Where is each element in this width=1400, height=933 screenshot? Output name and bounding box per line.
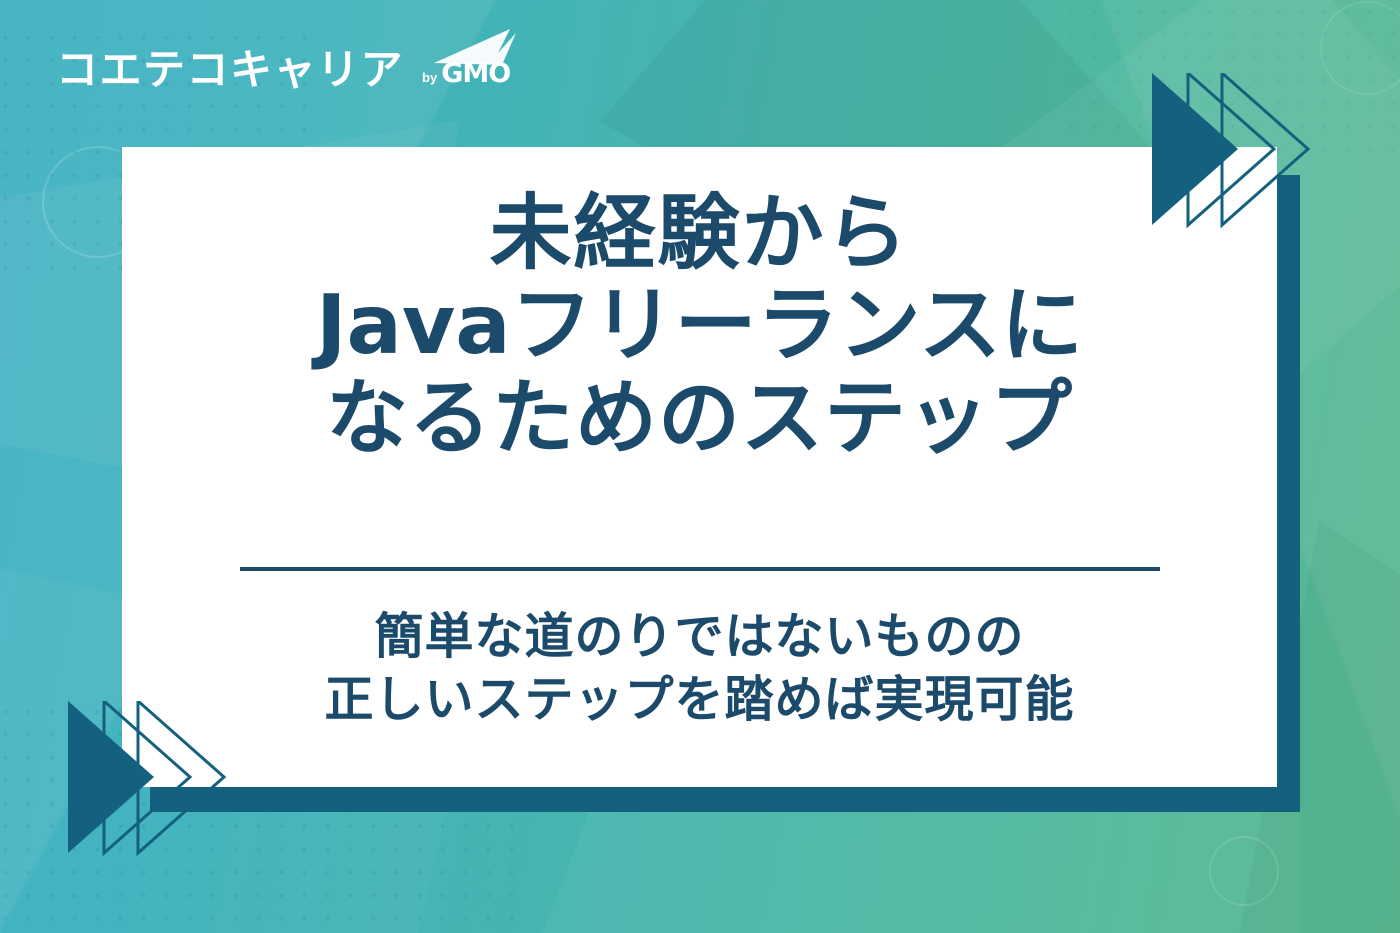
site-logo[interactable]: コエテコキャリア by GMO <box>56 49 510 91</box>
banner-stage: コエテコキャリア by GMO 未経験から Javaフリーランスに なるためのス… <box>0 0 1400 933</box>
headline-line-2: Javaフリーランスに <box>122 279 1277 372</box>
headline-divider <box>240 567 1160 571</box>
swoosh-arrow-icon <box>432 27 518 67</box>
headline-line-3: なるためのステップ <box>122 372 1277 465</box>
headline: 未経験から Javaフリーランスに なるためのステップ <box>122 190 1277 465</box>
headline-line-1: 未経験から <box>122 190 1277 279</box>
subtitle-line-2: 正しいステップを踏めば実現可能 <box>122 669 1277 732</box>
subtitle: 簡単な道のりではないものの 正しいステップを踏めば実現可能 <box>122 606 1277 731</box>
logo-wordmark: コエテコキャリア <box>56 49 404 91</box>
subtitle-line-1: 簡単な道のりではないものの <box>122 606 1277 669</box>
logo-by-label: by <box>422 70 437 85</box>
